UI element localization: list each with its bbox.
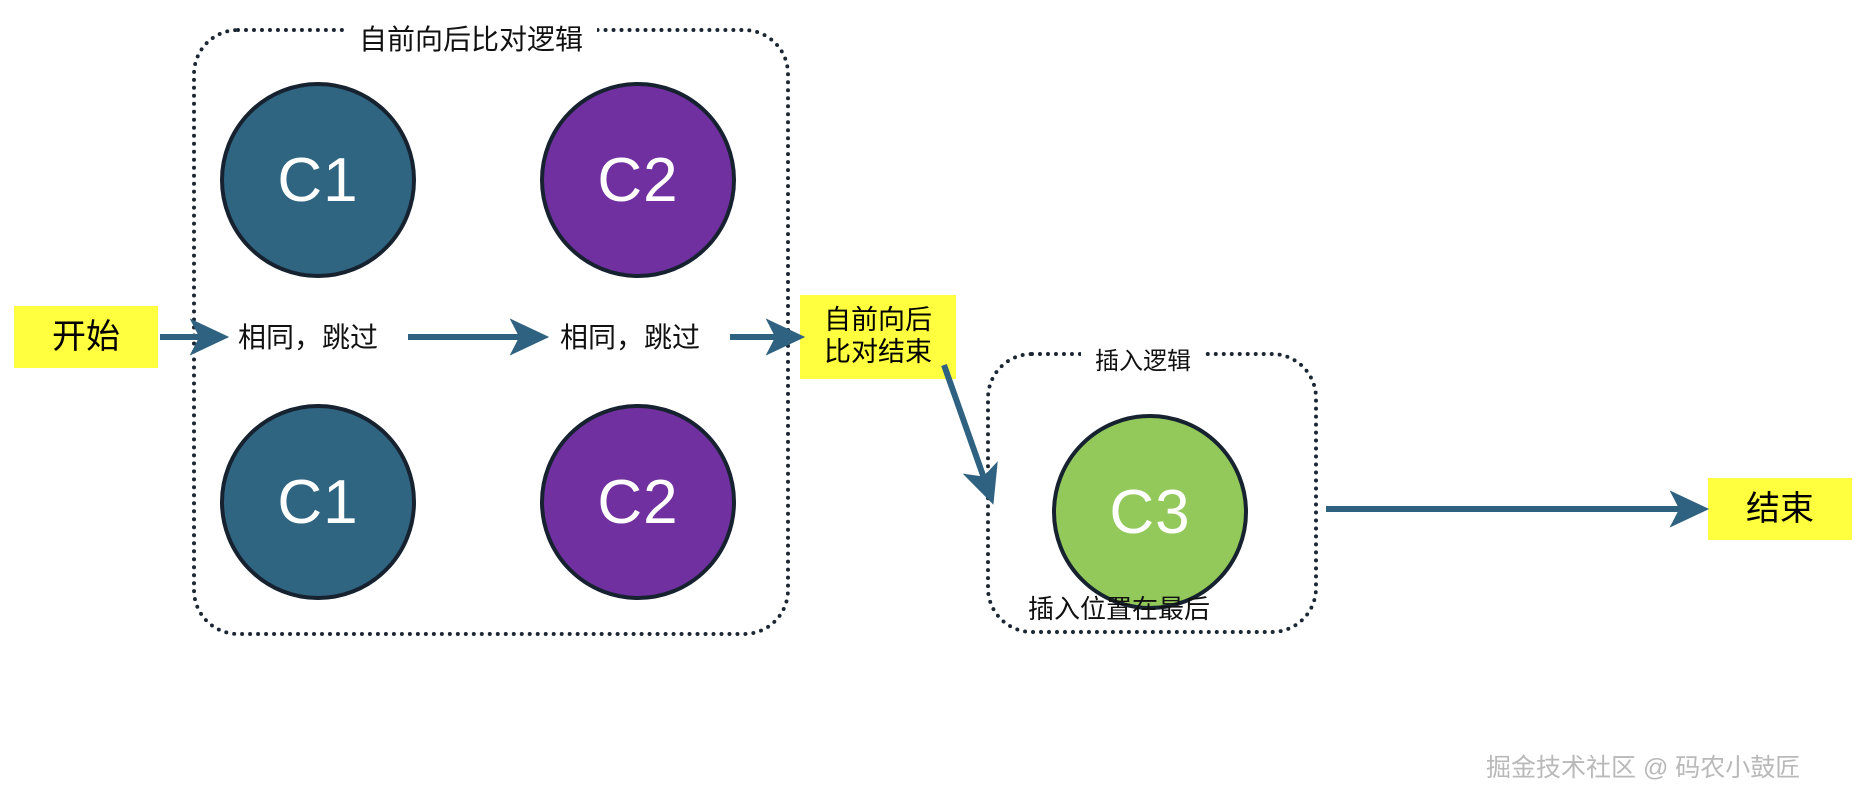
end-box-label: 结束 <box>1746 489 1814 529</box>
compare-end-box[interactable]: 自前向后 比对结束 <box>800 295 956 379</box>
start-box-label: 开始 <box>52 317 120 357</box>
node-circle-c3[interactable]: C3 <box>1052 414 1248 610</box>
group-title-compare-logic: 自前向后比对逻辑 <box>345 26 597 54</box>
node-circle-c1-bottom[interactable]: C1 <box>220 404 416 600</box>
step-label-skip-1: 相同，跳过 <box>238 324 378 352</box>
node-circle-c2-bottom[interactable]: C2 <box>540 404 736 600</box>
compare-end-box-line2: 比对结束 <box>824 337 932 369</box>
node-circle-c1-top[interactable]: C1 <box>220 82 416 278</box>
node-label-c2-bottom: C2 <box>597 467 678 538</box>
node-label-c1-bottom: C1 <box>277 467 358 538</box>
start-box[interactable]: 开始 <box>14 306 158 368</box>
end-box[interactable]: 结束 <box>1708 478 1852 540</box>
watermark: 掘金技术社区 @ 码农小鼓匠 <box>1486 756 1800 781</box>
diagram-canvas: 自前向后比对逻辑 插入逻辑 C1 C2 C1 C2 C3 开始 自前向后 比对结… <box>0 0 1866 806</box>
node-label-c1-top: C1 <box>277 145 358 216</box>
arrow-compare-end-to-insert-group <box>944 365 991 498</box>
compare-end-box-line1: 自前向后 <box>824 305 932 337</box>
node-label-c3: C3 <box>1109 477 1190 548</box>
node-circle-c2-top[interactable]: C2 <box>540 82 736 278</box>
group-title-insert-logic: 插入逻辑 <box>1081 350 1205 374</box>
node-label-c2-top: C2 <box>597 145 678 216</box>
step-label-insert-position: 插入位置在最后 <box>1028 596 1210 622</box>
step-label-skip-2: 相同，跳过 <box>560 324 700 352</box>
